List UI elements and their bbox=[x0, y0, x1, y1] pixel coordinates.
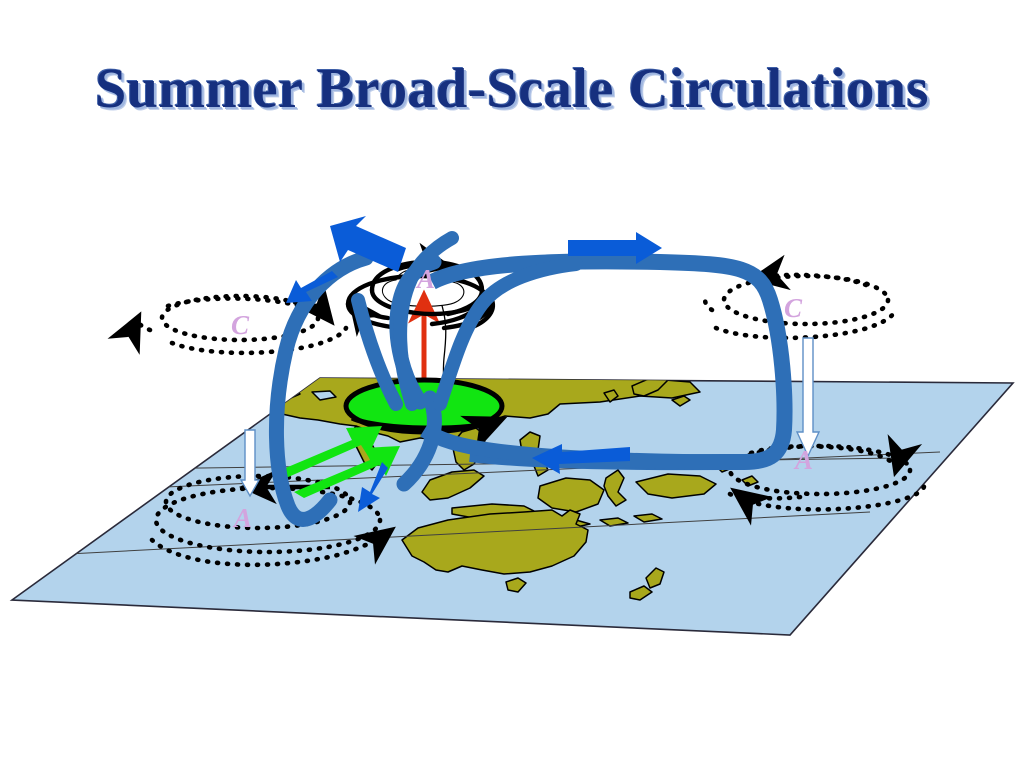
slide-canvas: Summer Broad-Scale Circulations bbox=[0, 0, 1024, 768]
label-C-right: C bbox=[784, 293, 803, 323]
label-A-low-west: A bbox=[232, 503, 252, 533]
label-A-low-east: A bbox=[793, 445, 813, 475]
circulation-diagram: A C C A A bbox=[0, 0, 1024, 768]
label-A-upper: A bbox=[415, 264, 435, 294]
label-C-left: C bbox=[231, 310, 250, 340]
